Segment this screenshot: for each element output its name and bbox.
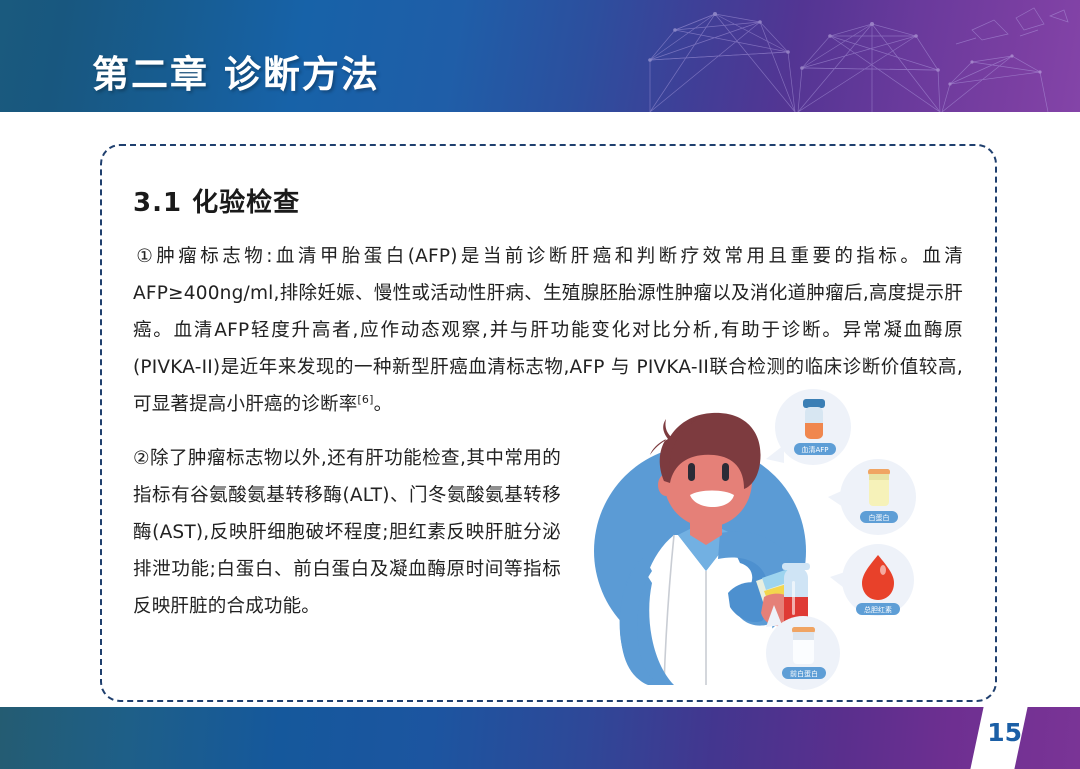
slide-page: 第二章 诊断方法 3.1 化验检查 ①肿瘤标志物:血清甲胎蛋白(AFP)是当前诊… bbox=[0, 0, 1080, 769]
bubble-label-0: 血清AFP bbox=[801, 445, 828, 454]
paragraph-one-tail: 。 bbox=[374, 394, 393, 415]
network-mesh-icon bbox=[620, 0, 1080, 112]
specimen-cup-lid bbox=[803, 399, 825, 408]
bubble-albumin: 白蛋白 bbox=[828, 459, 916, 535]
footer-bar bbox=[0, 707, 1080, 769]
eye-left bbox=[688, 463, 695, 481]
section-heading: 3.1 化验检查 bbox=[133, 182, 300, 219]
chapter-title: 第二章 诊断方法 bbox=[92, 44, 380, 98]
bubble-label-1: 白蛋白 bbox=[869, 513, 890, 522]
bubble-serum-afp: 血清AFP bbox=[766, 389, 851, 465]
bubble-label-3: 前白蛋白 bbox=[790, 669, 818, 678]
page-number: 15 bbox=[987, 718, 1022, 747]
reference-superscript: [6] bbox=[357, 393, 373, 406]
bubble-label-2: 总胆红素 bbox=[864, 605, 892, 614]
bubble-total-bilirubin: 总胆红素 bbox=[830, 544, 914, 616]
paragraph-two: ②除了肿瘤标志物以外,还有肝功能检查,其中常用的指标有谷氨酸氨基转移酶(ALT)… bbox=[133, 440, 561, 625]
bubble-prealbumin: 前白蛋白 bbox=[766, 605, 840, 690]
eye-right bbox=[722, 463, 729, 481]
header-banner: 第二章 诊断方法 bbox=[0, 0, 1080, 112]
doctor-with-test-tube-illustration: 血清AFP 白蛋白 总胆红素 bbox=[578, 385, 990, 705]
